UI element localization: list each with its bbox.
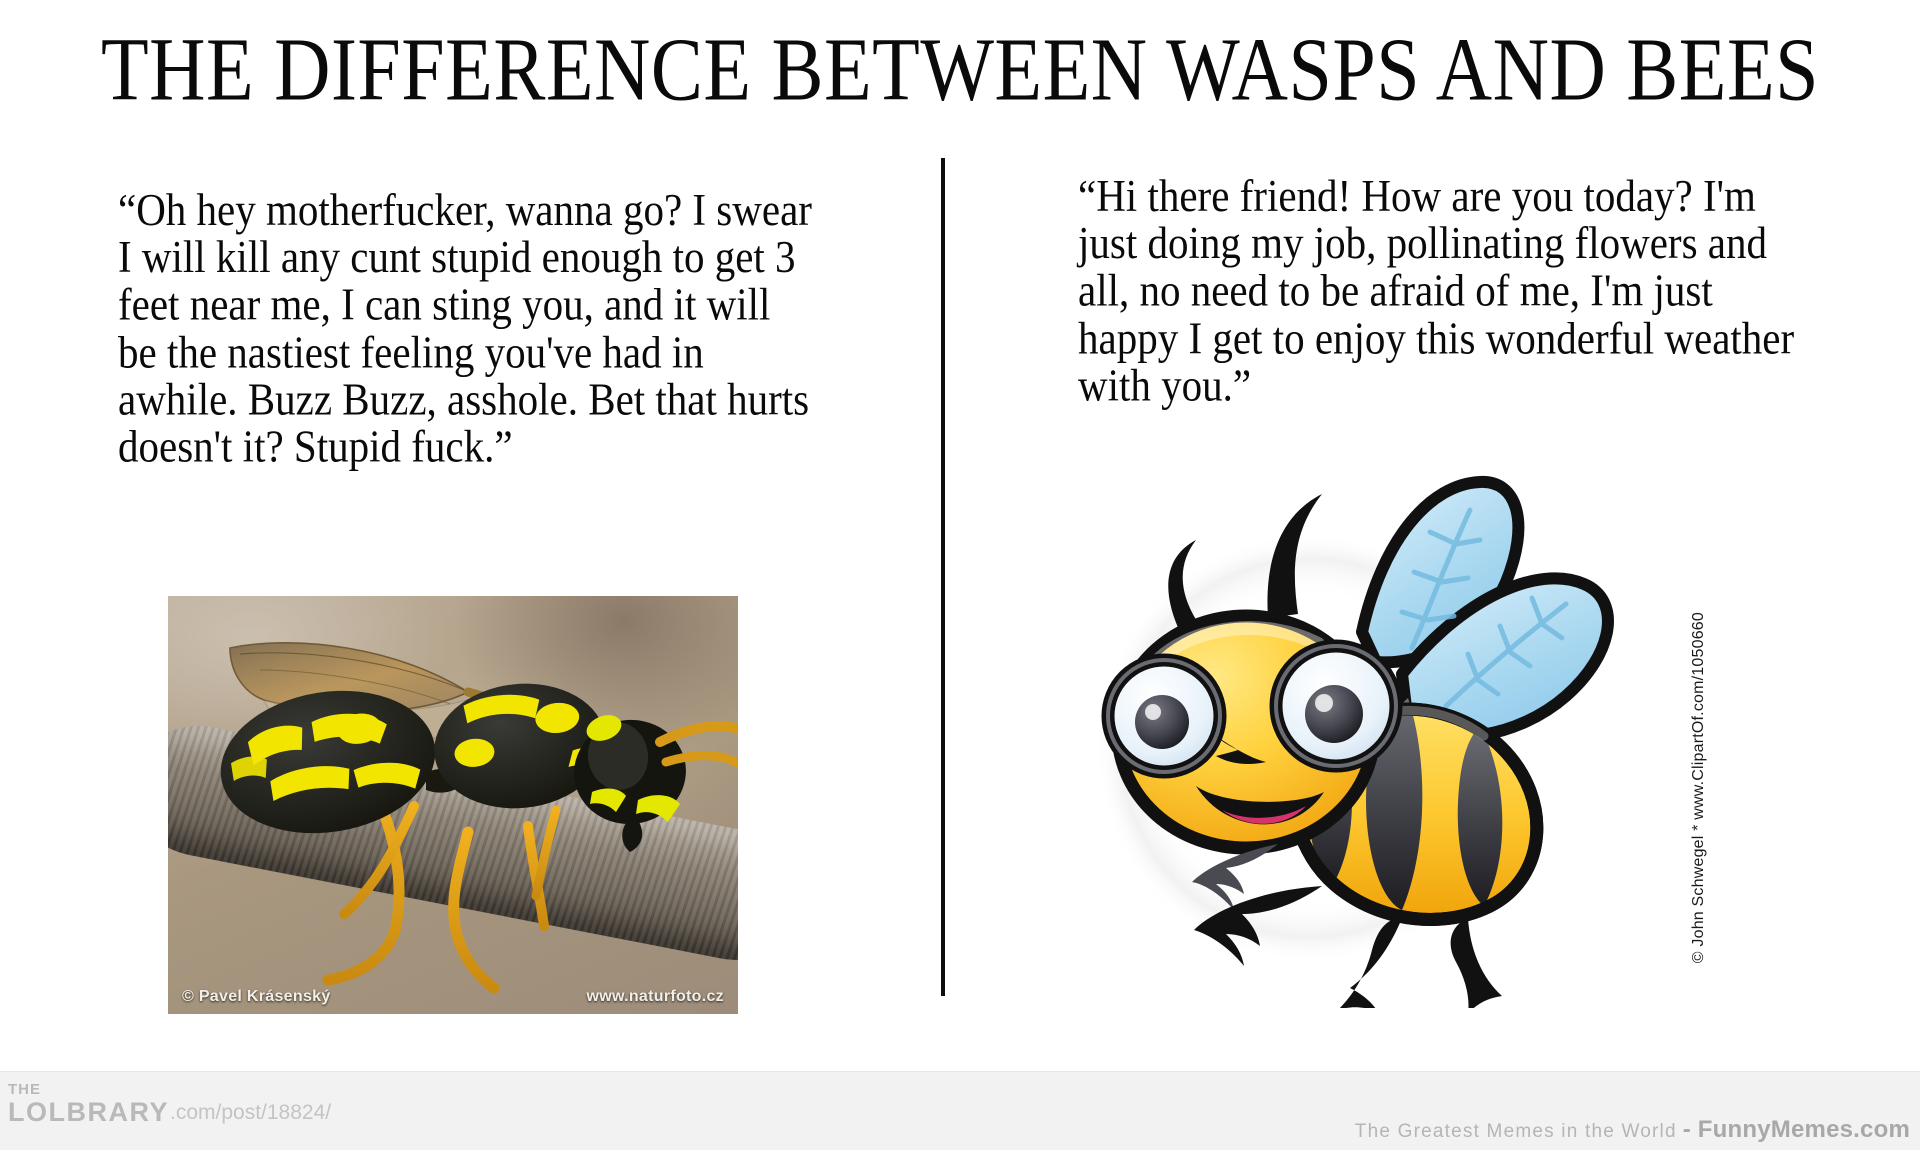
bee-image-credit: © John Schwegel * www.ClipartOf.com/1050…	[1690, 612, 1708, 963]
bee-svg	[1010, 448, 1620, 1008]
vertical-divider	[941, 158, 945, 996]
panel-bee: “Hi there friend! How are you today? I'm…	[1078, 150, 1818, 383]
footer-bar: THE LOLBRARY .com/post/18824/ The Greate…	[0, 1071, 1920, 1150]
wasp-photo-credit: © Pavel Krásenský	[182, 988, 331, 1006]
lolbrary-name-label: LOLBRARY	[8, 1099, 169, 1126]
wasp-illustration	[168, 596, 738, 1014]
title-bar: THE DIFFERENCE BETWEEN WASPS AND BEES	[0, 24, 1920, 102]
wasp-photo-source-url: www.naturfoto.cz	[586, 988, 724, 1006]
lolbrary-logo: THE LOLBRARY	[8, 1082, 169, 1126]
funnymemes-watermark[interactable]: The Greatest Memes in the World - FunnyM…	[1355, 1116, 1910, 1144]
funnymemes-brand: - FunnyMemes.com	[1683, 1116, 1910, 1144]
wasp-quote-text: “Oh hey motherfucker, wanna go? I swear …	[118, 186, 818, 470]
bee-illustration	[1010, 448, 1620, 1008]
funnymemes-tagline: The Greatest Memes in the World	[1355, 1121, 1677, 1143]
lolbrary-the-label: THE	[8, 1082, 169, 1097]
wasp-photo: © Pavel Krásenský www.naturfoto.cz	[168, 596, 738, 1014]
lolbrary-post-url: .com/post/18824/	[170, 1101, 331, 1126]
bee-quote-text: “Hi there friend! How are you today? I'm…	[1078, 172, 1803, 408]
page-title: THE DIFFERENCE BETWEEN WASPS AND BEES	[101, 24, 1819, 114]
lolbrary-watermark[interactable]: THE LOLBRARY .com/post/18824/	[8, 1082, 331, 1126]
panel-wasp: “Oh hey motherfucker, wanna go? I swear …	[118, 150, 838, 439]
